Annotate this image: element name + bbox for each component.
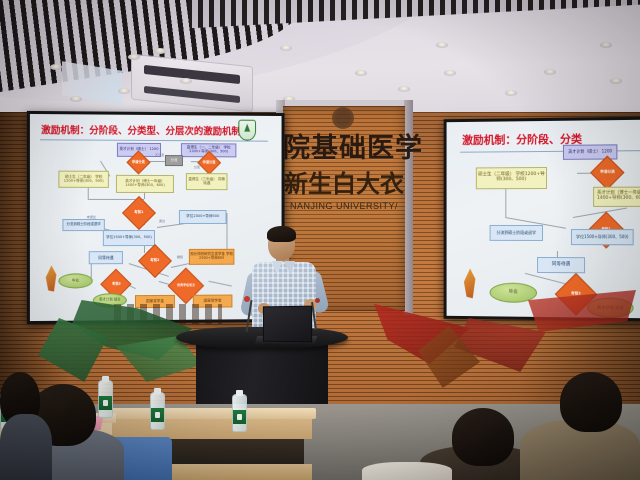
bottle-label (99, 396, 112, 410)
bottle-label (151, 408, 164, 422)
downlight-icon (355, 70, 367, 76)
flow-node: 分流到硕士阶段或退学 (490, 225, 543, 241)
flow-terminal: 毕业 (58, 273, 92, 288)
microphone-icon (315, 298, 320, 303)
ac-vent-icon (144, 86, 240, 103)
water-bottle (232, 394, 247, 432)
edge-label: 通过 (159, 219, 165, 223)
slide-title-rule (40, 139, 268, 141)
ceiling-slat-panel-right (187, 0, 640, 28)
flow-terminal: 毕业 (490, 283, 537, 303)
edge-label: 继续 (177, 255, 183, 259)
audience-desk (102, 408, 316, 419)
downlight-icon (128, 54, 140, 60)
edge-label: 分流 (194, 165, 200, 169)
banner-title-line2: 新生白大衣 (283, 164, 405, 199)
bottle-label (233, 410, 246, 424)
university-crest-icon (238, 120, 256, 141)
downlight-icon (180, 78, 192, 84)
audience-head (560, 372, 622, 432)
flow-edge (208, 281, 231, 287)
water-bottle (150, 392, 165, 430)
flow-node: 校长特别研究生奖学金 学校2500+导师800 (189, 249, 235, 265)
downlight-icon (280, 45, 292, 51)
flow-node: 硕士生（二年级） 学校1200+导师(300、500) (476, 167, 547, 189)
downlight-icon (444, 70, 456, 76)
flow-node: 分流到硕士阶段或退学 (62, 219, 104, 231)
flow-node: 英才计划（博士一年级） 1400+导师(300、600) (116, 175, 174, 193)
laptop-screen (263, 306, 312, 343)
downlight-icon (610, 78, 622, 84)
audience-shoulders (0, 414, 52, 480)
downlight-icon (436, 42, 448, 48)
downlight-icon (154, 48, 166, 54)
flow-node: 硕士生（二年级） 学校1200+导师(300、500) (58, 171, 109, 188)
desk-front-panel (106, 419, 312, 439)
flow-node: 同等待遇 (89, 251, 123, 264)
flow-node: 英才计划（博士一年级） 1400+导师(300、600) (593, 187, 640, 207)
projection-screen-right: 激励机制：分阶段、分类 英才计划（硕士） 1200 申请分流 硕士生（二年级） … (444, 117, 640, 322)
lecture-hall-photo: 院基础医学 新生白大衣 NANJING UNIVERSITY/ 激励机制：分阶段… (0, 0, 640, 480)
speaker-hair (267, 226, 296, 242)
downlight-icon (505, 90, 517, 96)
downlight-icon (70, 96, 82, 102)
flow-node: 学位1500+导师(300、500) (103, 230, 155, 246)
audience-head (452, 408, 514, 466)
microphone-icon (244, 296, 250, 302)
banner-title-line1: 院基础医学 (283, 126, 405, 165)
downlight-icon (118, 88, 130, 94)
flow-node: 直博生（三年级） 同等待遇 (186, 173, 228, 190)
downlight-icon (50, 64, 62, 70)
water-bottle (98, 380, 113, 418)
banner-subtitle-english: NANJING UNIVERSITY/ (283, 201, 405, 211)
downlight-icon (600, 42, 612, 48)
flow-edge (505, 187, 506, 217)
flow-node: 分流 (165, 155, 183, 166)
flow-decision: 考核1 (122, 196, 156, 230)
slide-surface-right: 激励机制：分阶段、分类 英才计划（硕士） 1200 申请分流 硕士生（二年级） … (447, 120, 640, 318)
audience-chair-back (362, 462, 452, 480)
ceiling (0, 0, 640, 116)
ac-vent-icon (144, 65, 240, 84)
downlight-icon (398, 86, 410, 92)
edge-label: 不分流 (155, 153, 164, 157)
downlight-icon (544, 69, 556, 75)
flow-node: 同等待遇 (537, 257, 585, 273)
flow-node: 学位1500+导师(300、500) (571, 229, 634, 245)
slide-mascot-figure (462, 268, 480, 298)
slide-title: 激励机制：分阶段、分类型、分层次的激励机制 (41, 122, 241, 137)
flow-node: 学位2300+导师500 (179, 210, 227, 224)
edge-label: 未通过 (87, 215, 96, 219)
flow-decision: 申请分流 (590, 156, 624, 190)
